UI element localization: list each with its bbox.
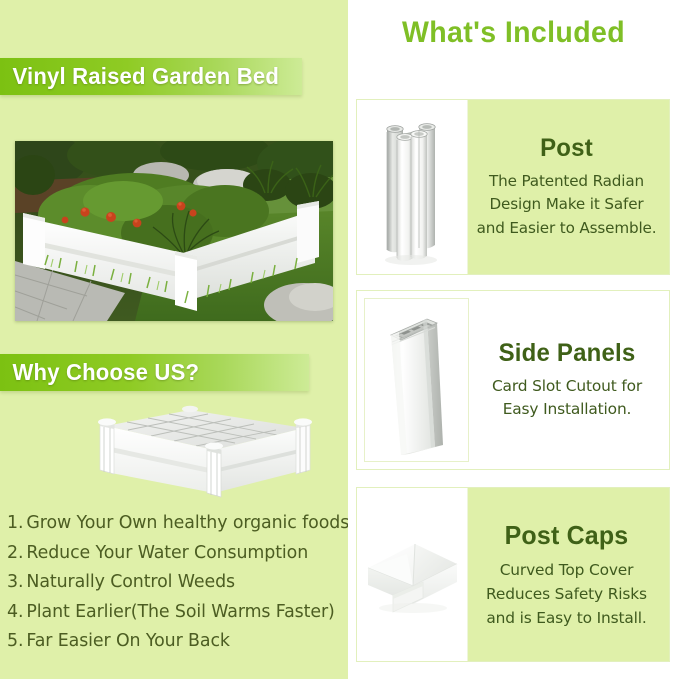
list-item-text: Far Easier On Your Back	[26, 631, 229, 651]
benefits-list: 1.Grow Your Own healthy organic foods 2.…	[7, 509, 348, 657]
banner-1-text: Vinyl Raised Garden Bed	[0, 63, 279, 90]
list-item-text: Plant Earlier(The Soil Warms Faster)	[26, 602, 334, 622]
list-item: 4.Plant Earlier(The Soil Warms Faster)	[7, 598, 348, 628]
card-desc-line: The Patented Radian	[470, 170, 663, 194]
post-image-panel	[357, 100, 468, 274]
product-grid-bed-photo	[18, 398, 332, 503]
card-heading: Post Caps	[474, 520, 659, 551]
list-item-number: 3.	[7, 572, 23, 592]
banner-vinyl-raised-garden-bed: Vinyl Raised Garden Bed	[0, 58, 302, 95]
card-desc-line: Reduces Safety Risks	[470, 582, 663, 606]
card-heading: Side Panels	[475, 339, 659, 368]
right-panel: What's Included	[348, 0, 679, 679]
post-card-body: Post The Patented Radian Design Make it …	[468, 100, 669, 274]
card-description: Curved Top Cover Reduces Safety Risks an…	[470, 558, 663, 630]
list-item-number: 5.	[7, 631, 23, 651]
feature-card-post: Post The Patented Radian Design Make it …	[356, 99, 670, 275]
card-desc-line: and Easier to Assemble.	[470, 217, 663, 241]
list-item: 3.Naturally Control Weeds	[7, 568, 348, 598]
list-item-text: Naturally Control Weeds	[26, 572, 235, 592]
post-cap-image-panel	[357, 488, 468, 661]
vinyl-post-icon	[357, 100, 467, 273]
list-item-number: 1.	[7, 513, 23, 533]
card-heading: Post	[474, 134, 659, 163]
left-panel: Vinyl Raised Garden Bed	[0, 0, 348, 679]
feature-card-post-caps: Post Caps Curved Top Cover Reduces Safet…	[356, 487, 670, 662]
side-panel-image-panel	[364, 298, 469, 462]
garden-bed-scene-illustration	[15, 141, 333, 321]
card-desc-line: Easy Installation.	[471, 398, 663, 422]
card-desc-line: Curved Top Cover	[470, 558, 663, 582]
post-caps-card-body: Post Caps Curved Top Cover Reduces Safet…	[468, 488, 669, 661]
list-item: 1.Grow Your Own healthy organic foods	[7, 509, 348, 539]
vinyl-side-panel-icon	[365, 299, 466, 462]
card-desc-line: Card Slot Cutout for	[471, 375, 663, 399]
feature-card-side-panels: Side Panels Card Slot Cutout for Easy In…	[356, 290, 670, 470]
card-desc-line: Design Make it Safer	[470, 193, 663, 217]
list-item-text: Reduce Your Water Consumption	[26, 543, 308, 563]
hero-garden-bed-photo	[15, 141, 333, 321]
card-description: Card Slot Cutout for Easy Installation.	[471, 375, 663, 422]
banner-why-choose-us: Why Choose US?	[0, 354, 309, 391]
banner-2-text: Why Choose US?	[0, 359, 199, 386]
side-panels-card-body: Side Panels Card Slot Cutout for Easy In…	[469, 291, 669, 469]
list-item-text: Grow Your Own healthy organic foods	[26, 513, 349, 533]
list-item-number: 4.	[7, 602, 23, 622]
raised-bed-with-grid-illustration	[18, 398, 332, 503]
list-item: 2.Reduce Your Water Consumption	[7, 539, 348, 569]
card-desc-line: and is Easy to Install.	[470, 606, 663, 630]
card-description: The Patented Radian Design Make it Safer…	[470, 170, 663, 241]
list-item-number: 2.	[7, 543, 23, 563]
infographic-page: Vinyl Raised Garden Bed	[0, 0, 679, 679]
vinyl-post-cap-icon	[357, 488, 467, 660]
page-title: What's Included	[356, 16, 670, 50]
list-item: 5.Far Easier On Your Back	[7, 627, 348, 657]
